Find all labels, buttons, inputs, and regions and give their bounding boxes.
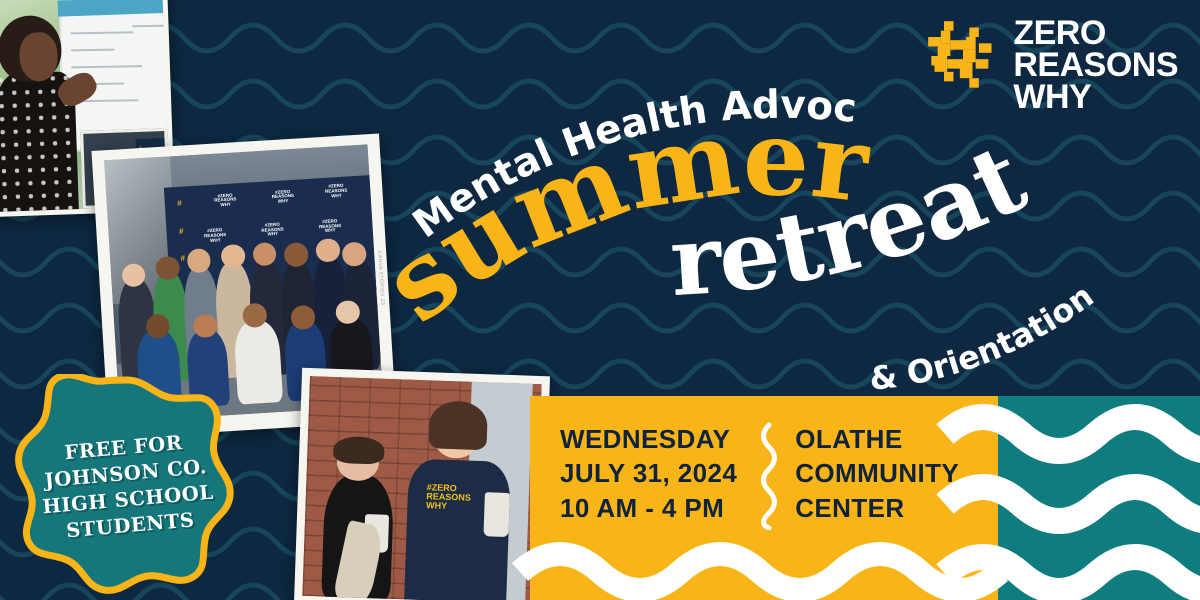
badge-text-block: FREE FOR JOHNSON CO. HIGH SCHOOL STUDENT…	[5, 365, 250, 600]
venue-line-1: OLATHE	[795, 422, 959, 456]
brand-line-3: WHY	[1013, 82, 1178, 114]
photo-two-students-image: #ZEROREASONSWHY	[302, 376, 542, 600]
pixel-hashtag-icon	[925, 18, 1001, 94]
teal-panel	[997, 396, 1200, 600]
photo-two-students: #ZEROREASONSWHY CANVA STORIES 23	[294, 368, 550, 600]
event-time: 10 AM - 4 PM	[560, 491, 737, 525]
headline-subline-text: & Orientation	[867, 277, 1100, 398]
event-info-panel: WEDNESDAY JULY 31, 2024 10 AM - 4 PM OLA…	[530, 396, 998, 600]
venue-line-3: CENTER	[795, 491, 959, 525]
squiggle-divider-icon	[753, 422, 779, 530]
event-date: JULY 31, 2024	[560, 456, 737, 490]
brand-wordmark: ZERO REASONS WHY	[1013, 18, 1178, 114]
headline-subline: & Orientation	[867, 277, 1100, 398]
event-flyer: # # # # # # #ZEROREASONSWHY #ZEROREASONS…	[0, 0, 1200, 600]
event-day: WEDNESDAY	[560, 422, 737, 456]
event-venue-block: OLATHE COMMUNITY CENTER	[795, 422, 959, 525]
free-admission-badge: FREE FOR JOHNSON CO. HIGH SCHOOL STUDENT…	[14, 374, 240, 600]
brand-logo: ZERO REASONS WHY	[925, 18, 1178, 114]
event-date-block: WEDNESDAY JULY 31, 2024 10 AM - 4 PM	[560, 422, 737, 525]
venue-line-2: COMMUNITY	[795, 456, 959, 490]
